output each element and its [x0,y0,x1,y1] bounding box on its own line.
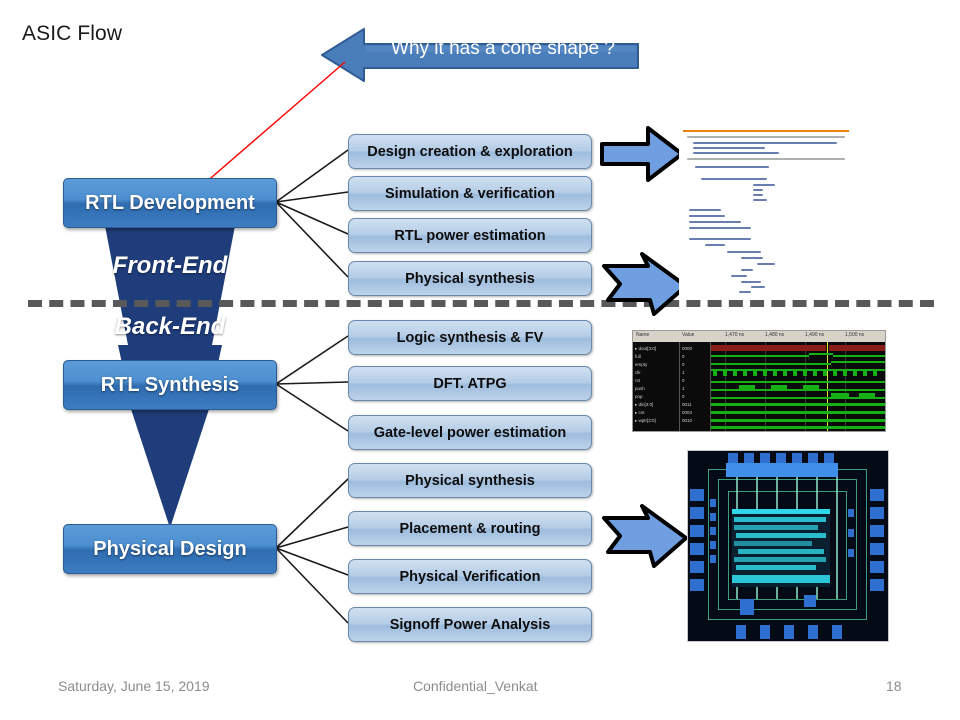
task-box[interactable]: Simulation & verification [348,176,592,211]
arrow-to-code-icon [600,124,684,184]
task-box[interactable]: Logic synthesis & FV [348,320,592,355]
footer-date: Saturday, June 15, 2019 [58,678,210,694]
task-box[interactable]: Gate-level power estimation [348,415,592,450]
arrow-to-layout-icon [598,504,690,568]
screenshot-chip-layout [687,450,889,642]
task-label: Gate-level power estimation [374,425,567,441]
task-label: DFT. ATPG [433,376,506,392]
stage-rtl-development[interactable]: RTL Development [63,178,277,228]
frontend-backend-divider [28,300,934,307]
task-label: Design creation & exploration [367,144,572,160]
stage-label: Physical Design [93,538,246,561]
task-label: Physical Verification [399,569,540,585]
stage-label: RTL Development [85,192,255,215]
task-label: Signoff Power Analysis [390,617,551,633]
waveform-values: 0000 0 0 1 0 1 0 0011 0004 0010 [680,342,711,431]
task-box[interactable]: Design creation & exploration [348,134,592,169]
slide-canvas: ASIC Flow Why it has a cone shape ? Fron… [0,0,960,720]
arrow-to-waveform-icon [598,252,690,316]
task-box[interactable]: Physical synthesis [348,463,592,498]
funnel-label-back-end: Back-End [55,313,285,341]
task-label: Physical synthesis [405,473,535,489]
screenshot-rtl-code-listing [679,126,853,298]
task-box[interactable]: Signoff Power Analysis [348,607,592,642]
task-label: RTL power estimation [394,228,545,244]
footer-confidential: Confidential_Venkat [413,678,538,694]
task-label: Logic synthesis & FV [397,330,544,346]
task-box[interactable]: DFT. ATPG [348,366,592,401]
stage-label: RTL Synthesis [101,374,240,397]
task-box[interactable]: Placement & routing [348,511,592,546]
stage-rtl-synthesis[interactable]: RTL Synthesis [63,360,277,410]
task-label: Placement & routing [400,521,541,537]
funnel-label-front-end: Front-End [55,252,285,280]
stage-physical-design[interactable]: Physical Design [63,524,277,574]
waveform-signal-names: ▸ dout[3:0] full empty clk rst push pop … [633,342,680,431]
task-box[interactable]: RTL power estimation [348,218,592,253]
waveform-header: Name Value 1,470 ns 1,480 ns 1,490 ns 1,… [633,331,885,342]
task-label: Simulation & verification [385,186,555,202]
footer-page-number: 18 [886,678,902,694]
task-label: Physical synthesis [405,271,535,287]
task-box[interactable]: Physical Verification [348,559,592,594]
waveform-plot [711,342,885,431]
task-box[interactable]: Physical synthesis [348,261,592,296]
screenshot-simulation-waveform: Name Value 1,470 ns 1,480 ns 1,490 ns 1,… [632,330,886,432]
